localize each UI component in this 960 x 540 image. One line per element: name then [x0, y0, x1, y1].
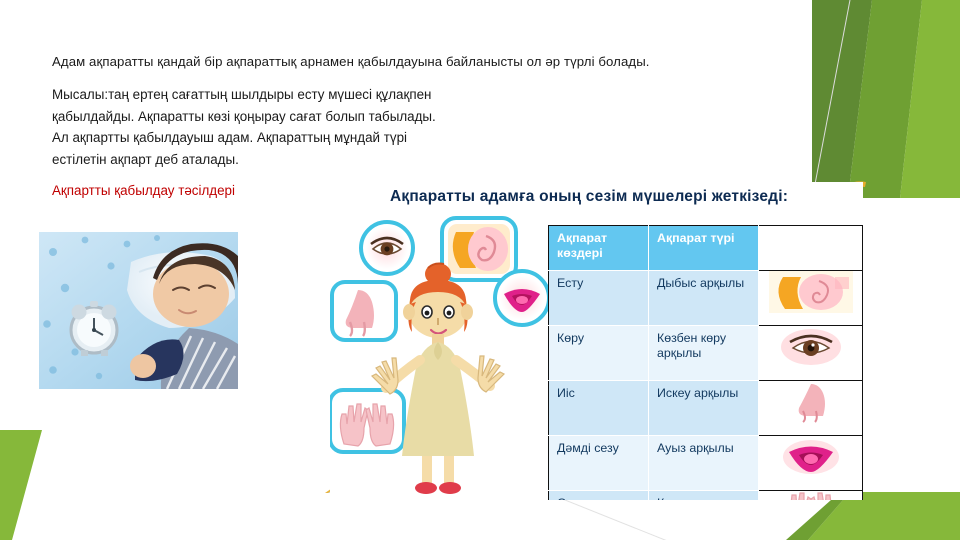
- green-corner-bottom-left: [0, 430, 120, 540]
- cell-type: Қолмен ұстап көру: [649, 491, 759, 501]
- panel-title: Ақпаратты адамға оның сезім мүшелері жет…: [390, 188, 788, 206]
- text-block: Адам ақпаратты қандай бір ақпараттық арн…: [52, 52, 812, 201]
- girl-with-senses-figure: [330, 206, 555, 500]
- slide-canvas: Адам ақпаратты қандай бір ақпараттық арн…: [0, 0, 960, 540]
- table-row: Көру Көзбен көру арқылы: [549, 326, 863, 381]
- table-header-organ: [759, 226, 863, 271]
- callout-mouth: [495, 271, 549, 325]
- cell-source: Көру: [549, 326, 649, 381]
- illustration-panel: Ақпаратты адамға оның сезім мүшелері жет…: [330, 182, 863, 500]
- cell-source: Дәмді сезу: [549, 436, 649, 491]
- intro-paragraph: Адам ақпаратты қандай бір ақпараттық арн…: [52, 52, 812, 72]
- cell-type: Ауыз арқылы: [649, 436, 759, 491]
- example-paragraph: Мысалы:таң ертең сағаттың шылдыры есту м…: [52, 84, 812, 171]
- cell-organ: [759, 271, 863, 326]
- callout-eye: [361, 222, 413, 274]
- cell-organ: [759, 381, 863, 436]
- table-header-type: Ақпарат түрі: [649, 226, 759, 271]
- callout-hands: [330, 390, 404, 452]
- eye-icon: [759, 326, 862, 370]
- table-row: Есту Дыбыс арқылы: [549, 271, 863, 326]
- sleeping-boy-photo: [39, 232, 238, 389]
- callout-ear: [442, 218, 516, 280]
- cell-type: Көзбен көру арқылы: [649, 326, 759, 381]
- callout-nose: [332, 282, 396, 340]
- table-row: Дәмді сезу Ауыз арқылы: [549, 436, 863, 491]
- senses-table: Ақпарат көздері Ақпарат түрі Есту Дыбыс …: [548, 225, 863, 500]
- table-header-row: Ақпарат көздері Ақпарат түрі: [549, 226, 863, 271]
- cell-source: Сезу арқылы: [549, 491, 649, 501]
- mouth-icon: [759, 436, 862, 480]
- cell-type: Дыбыс арқылы: [649, 271, 759, 326]
- table-row: Иіс Искеу арқылы: [549, 381, 863, 436]
- hands-icon: [759, 491, 862, 500]
- cell-type: Искеу арқылы: [649, 381, 759, 436]
- green-corner-top-right: [812, 0, 960, 198]
- example-line-1: Мысалы:таң ертең сағаттың шылдыры есту м…: [52, 84, 812, 106]
- example-line-3: Ал ақпартты қабылдауыш адам. Ақпараттың …: [52, 127, 812, 149]
- cell-organ: [759, 436, 863, 491]
- cell-source: Иіс: [549, 381, 649, 436]
- nose-icon: [759, 381, 862, 425]
- table-header-source: Ақпарат көздері: [549, 226, 649, 271]
- cell-organ: [759, 326, 863, 381]
- ear-icon: [759, 271, 862, 315]
- example-line-2: қабылдайды. Ақпаратты көзі қоңырау сағат…: [52, 106, 812, 128]
- cell-source: Есту: [549, 271, 649, 326]
- cell-organ: [759, 491, 863, 501]
- table-row: Сезу арқылы Қолмен ұстап көру: [549, 491, 863, 501]
- example-line-4: естілетін ақпарт деб аталады.: [52, 149, 812, 171]
